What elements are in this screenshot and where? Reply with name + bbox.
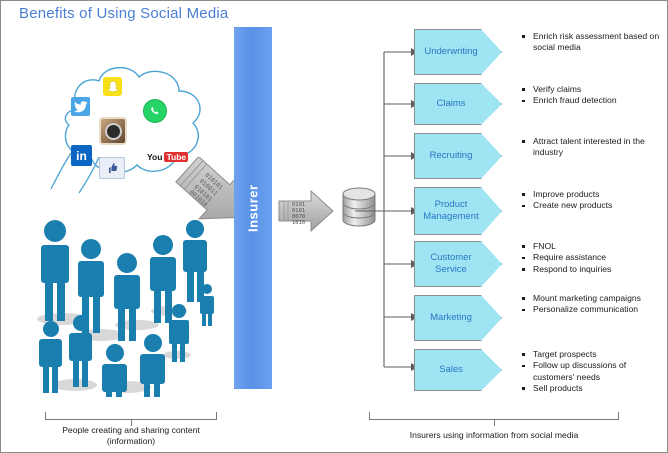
bracket-tick-right bbox=[618, 412, 619, 420]
whatsapp-icon bbox=[143, 99, 167, 123]
insurer-column: Insurer bbox=[234, 27, 272, 389]
data-flow-arrow: 0101 0101 0070 1010 bbox=[277, 187, 337, 235]
flow-shape-label: Sales bbox=[415, 364, 501, 376]
flow-shape-sales[interactable]: Sales bbox=[414, 349, 502, 391]
flow-shape-customer-service[interactable]: Customer Service bbox=[414, 241, 502, 287]
bullet-item: Target prospects bbox=[520, 349, 668, 360]
right-bracket bbox=[369, 409, 619, 423]
bullet-item: Attract talent interested in the industr… bbox=[520, 136, 668, 159]
bullet-item: Enrich fraud detection bbox=[520, 95, 668, 106]
bullet-item: Require assistance bbox=[520, 252, 668, 263]
people-crowd bbox=[19, 207, 214, 397]
flow-shape-label: Recruiting bbox=[415, 150, 501, 162]
bullet-list-recruiting: Attract talent interested in the industr… bbox=[520, 136, 668, 159]
bracket-tick-left bbox=[369, 412, 370, 420]
flow-shape-label: Marketing bbox=[415, 312, 501, 324]
bullet-item: Sell products bbox=[520, 383, 668, 394]
bullet-item: Mount marketing campaigns bbox=[520, 293, 668, 304]
bullet-item: Personalize communication bbox=[520, 304, 668, 315]
bullet-item: Respond to inquiries bbox=[520, 264, 668, 275]
bullet-item: FNOL bbox=[520, 241, 668, 252]
linkedin-glyph: in bbox=[76, 149, 87, 163]
bullet-list-customer-service: FNOL Require assistance Respond to inqui… bbox=[520, 241, 668, 275]
bracket-tick-middle bbox=[494, 419, 495, 426]
bullet-list-product-management: Improve products Create new products bbox=[520, 189, 668, 212]
bullet-item: Enrich risk assessment based on social m… bbox=[520, 31, 668, 54]
flow-shape-claims[interactable]: Claims bbox=[414, 83, 502, 125]
flow-shape-label: Underwriting bbox=[415, 46, 501, 58]
linkedin-icon: in bbox=[71, 145, 92, 166]
flow-shape-product-management[interactable]: Product Management bbox=[414, 187, 502, 235]
bullet-list-underwriting: Enrich risk assessment based on social m… bbox=[520, 31, 668, 54]
twitter-icon bbox=[71, 97, 90, 116]
bullet-item: Create new products bbox=[520, 200, 668, 211]
instagram-icon bbox=[99, 117, 127, 145]
insurer-label: Insurer bbox=[234, 27, 272, 389]
snapchat-icon bbox=[103, 77, 122, 96]
left-caption-line1: People creating and sharing content bbox=[21, 425, 241, 436]
left-caption-line2: (information) bbox=[21, 436, 241, 447]
diagram-canvas: Benefits of Using Social Media in bbox=[0, 0, 668, 453]
bracket-tick-right bbox=[216, 412, 217, 420]
flow-shape-underwriting[interactable]: Underwriting bbox=[414, 29, 502, 75]
flow-shape-label: Product Management bbox=[415, 199, 501, 223]
bullet-item: Follow up discussions of customers' need… bbox=[520, 360, 668, 383]
facebook-like-icon bbox=[99, 157, 125, 179]
right-caption: Insurers using information from social m… bbox=[369, 430, 619, 441]
page-title: Benefits of Using Social Media bbox=[19, 5, 228, 22]
youtube-word-you: You bbox=[147, 152, 162, 162]
left-caption: People creating and sharing content (inf… bbox=[21, 425, 241, 447]
bullet-list-claims: Verify claims Enrich fraud detection bbox=[520, 84, 668, 107]
flow-shape-recruiting[interactable]: Recruiting bbox=[414, 133, 502, 179]
bullet-list-marketing: Mount marketing campaigns Personalize co… bbox=[520, 293, 668, 316]
flow-shape-label: Claims bbox=[415, 98, 501, 110]
bullet-list-sales: Target prospects Follow up discussions o… bbox=[520, 349, 668, 395]
left-bracket bbox=[45, 409, 217, 423]
bracket-tick-left bbox=[45, 412, 46, 420]
bullet-item: Verify claims bbox=[520, 84, 668, 95]
svg-text:1010: 1010 bbox=[292, 220, 305, 226]
flow-shape-marketing[interactable]: Marketing bbox=[414, 295, 502, 341]
bullet-item: Improve products bbox=[520, 189, 668, 200]
flow-shape-label: Customer Service bbox=[415, 252, 501, 276]
